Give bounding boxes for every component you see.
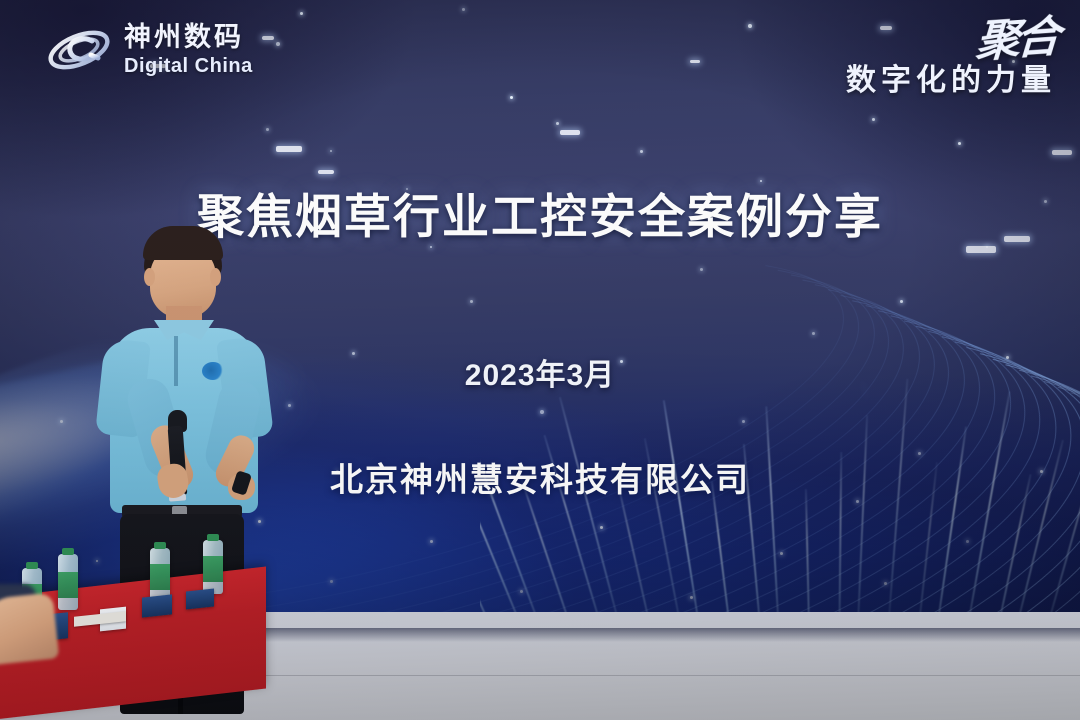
speaker-shirt-placket bbox=[174, 336, 178, 386]
audience-member-hand bbox=[0, 592, 59, 665]
bottle-label bbox=[203, 556, 223, 582]
brand-logo: 神州数码 Digital China bbox=[46, 22, 253, 78]
event-tagline: 聚合 数字化的力量 bbox=[846, 18, 1056, 96]
speaker-hair-top bbox=[143, 226, 223, 260]
water-bottle bbox=[203, 540, 223, 594]
bottle-cap bbox=[154, 542, 166, 549]
conference-photo: 神州数码 Digital China 聚合 数字化的力量 聚焦烟草行业工控安全案… bbox=[0, 0, 1080, 720]
speaker-ear-right bbox=[210, 268, 221, 286]
bottle-cap bbox=[62, 548, 74, 555]
digital-china-swirl-logo bbox=[46, 22, 112, 78]
bottle-cap bbox=[26, 562, 38, 569]
bottle-cap bbox=[207, 534, 219, 541]
speaker-figure bbox=[96, 228, 271, 620]
brand-name-cn: 神州数码 bbox=[124, 24, 253, 51]
water-bottle bbox=[58, 554, 78, 610]
brand-name-en: Digital China bbox=[124, 56, 253, 76]
tagline-calligraphy: 聚合 bbox=[975, 15, 1058, 64]
name-card bbox=[142, 594, 172, 617]
bottle-label bbox=[150, 564, 170, 590]
speaker-ear-left bbox=[144, 268, 155, 286]
speaker-shirt-logo bbox=[202, 362, 224, 380]
name-card bbox=[186, 589, 214, 610]
bottle-label bbox=[58, 572, 78, 598]
audience-table bbox=[0, 575, 266, 720]
tagline-subtitle: 数字化的力量 bbox=[846, 66, 1056, 96]
